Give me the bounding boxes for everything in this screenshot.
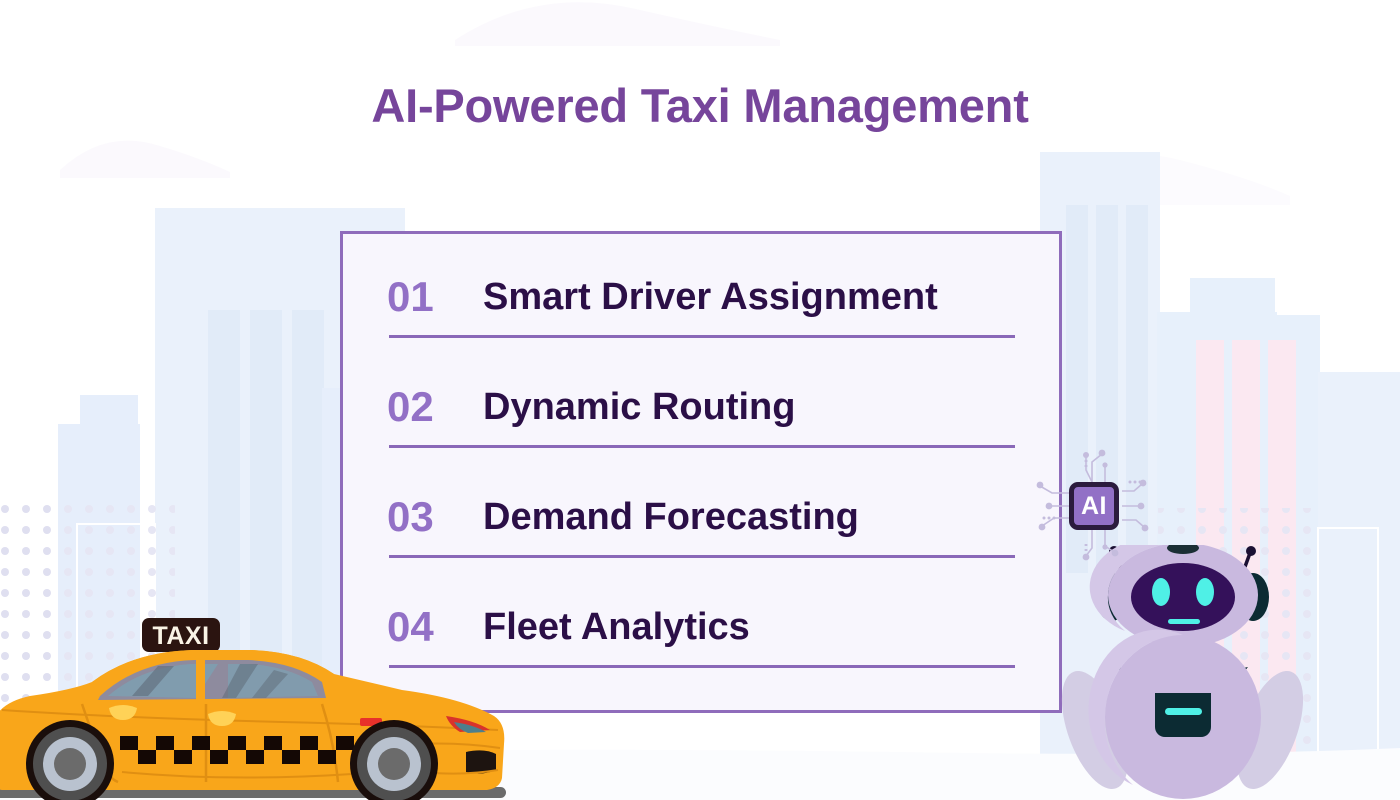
svg-text:TAXI: TAXI	[152, 622, 209, 650]
list-item-label: Smart Driver Assignment	[483, 270, 938, 316]
page-title: AI-Powered Taxi Management	[0, 78, 1400, 133]
list-item-number: 02	[387, 380, 483, 428]
list-item-divider	[389, 555, 1015, 558]
list-item[interactable]: 03 Demand Forecasting	[387, 490, 1011, 600]
list-item[interactable]: 02 Dynamic Routing	[387, 380, 1011, 490]
list-item-number: 03	[387, 490, 483, 538]
list-item-divider	[389, 335, 1015, 338]
list-item-label: Fleet Analytics	[483, 600, 750, 646]
list-item-divider	[389, 445, 1015, 448]
ai-chip-badge[interactable]: AI	[1069, 482, 1119, 530]
list-item-label: Dynamic Routing	[483, 380, 795, 426]
list-item-number: 01	[387, 270, 483, 318]
ai-robot-mascot	[1055, 545, 1325, 800]
list-item[interactable]: 01 Smart Driver Assignment	[387, 270, 1011, 380]
taxi-cab-illustration: TAXI	[0, 612, 512, 800]
ai-chip-label: AI	[1081, 494, 1107, 519]
list-item-label: Demand Forecasting	[483, 490, 859, 536]
